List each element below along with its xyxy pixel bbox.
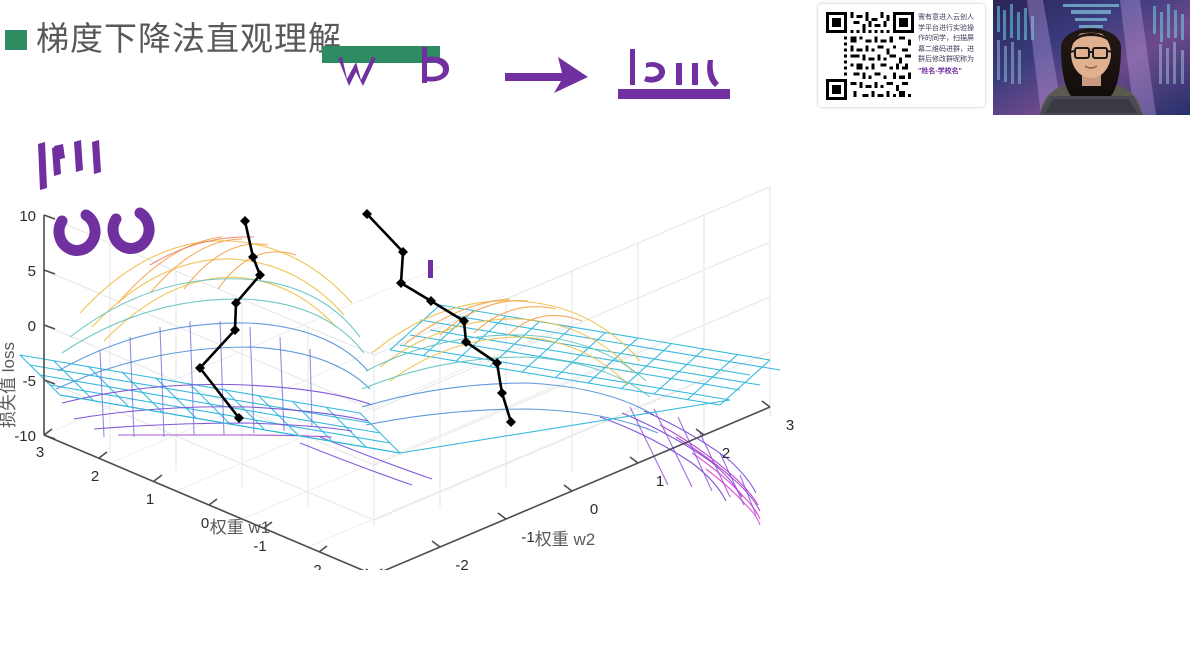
surface-plot: 10 5 0 -5 -10 3 2 1 0 -1 -2 -3 -3 -2 -1 … xyxy=(0,185,812,565)
ink-underline xyxy=(618,89,730,99)
y-tick-5: 2 xyxy=(722,445,730,462)
ink-circle-left xyxy=(59,215,95,250)
x-axis-label: 权重 w1 xyxy=(210,518,270,537)
presenter-video[interactable] xyxy=(993,0,1190,115)
qr-caption-line-1: 需有意进入云创人 xyxy=(918,14,974,21)
z-tick-3: -5 xyxy=(23,373,36,390)
ink-arrow xyxy=(505,57,588,93)
x-tick-5: -2 xyxy=(308,562,321,570)
qr-caption-highlight: "姓名-学校名" xyxy=(918,67,980,78)
x-tick-2: 1 xyxy=(146,491,154,508)
qr-code-card[interactable]: 需有意进入云创人 学平台进行实验操 作的同学，扫描屏 幕二维码进群，进 群后修改… xyxy=(818,4,985,107)
ink-loss-underlined xyxy=(630,49,719,87)
x-tick-3: 0 xyxy=(201,515,209,532)
qr-code-icon xyxy=(826,12,914,100)
ink-w xyxy=(338,57,376,86)
ink-circle-right xyxy=(113,213,149,248)
ink-loss-left xyxy=(38,140,101,190)
qr-caption-line-3: 作的同学，扫描屏 xyxy=(918,35,974,42)
y-tick-4: 1 xyxy=(656,473,664,490)
surface-plot-svg: 10 5 0 -5 -10 3 2 1 0 -1 -2 -3 -3 -2 -1 … xyxy=(0,185,812,570)
y-tick-6: 3 xyxy=(786,417,794,434)
z-tick-0: 10 xyxy=(19,208,36,225)
y-tick-3: 0 xyxy=(590,501,598,518)
x-tick-1: 2 xyxy=(91,468,99,485)
x-tick-4: -1 xyxy=(253,538,266,555)
axis-tick-labels: 10 5 0 -5 -10 3 2 1 0 -1 -2 -3 -3 -2 -1 … xyxy=(14,208,794,570)
qr-caption-line-2: 学平台进行实验操 xyxy=(918,25,974,32)
z-axis-label: 损失值 loss xyxy=(0,342,18,428)
qr-caption-line-5: 群后修改群昵称为 xyxy=(918,56,974,63)
y-tick-1: -2 xyxy=(455,557,468,570)
x-tick-0: 3 xyxy=(36,444,44,461)
y-tick-2: -1 xyxy=(521,529,534,546)
z-tick-4: -10 xyxy=(14,428,36,445)
z-tick-2: 0 xyxy=(28,318,36,335)
slide-canvas: 梯度下降法直观理解 xyxy=(0,0,1190,670)
qr-caption-line-4: 幕二维码进群，进 xyxy=(918,46,974,53)
y-axis-label: 权重 w2 xyxy=(535,530,595,549)
presenter-video-frame xyxy=(993,0,1190,115)
ink-tick xyxy=(428,260,433,278)
ink-annotation-layer-top xyxy=(330,45,760,125)
ink-b xyxy=(422,47,449,83)
qr-caption: 需有意进入云创人 学平台进行实验操 作的同学，扫描屏 幕二维码进群，进 群后修改… xyxy=(918,13,980,77)
ink-peak-circles xyxy=(59,213,149,250)
plot-grid xyxy=(44,187,770,570)
z-tick-1: 5 xyxy=(28,263,36,280)
header-accent-square xyxy=(5,30,27,50)
page-title: 梯度下降法直观理解 xyxy=(36,18,342,60)
